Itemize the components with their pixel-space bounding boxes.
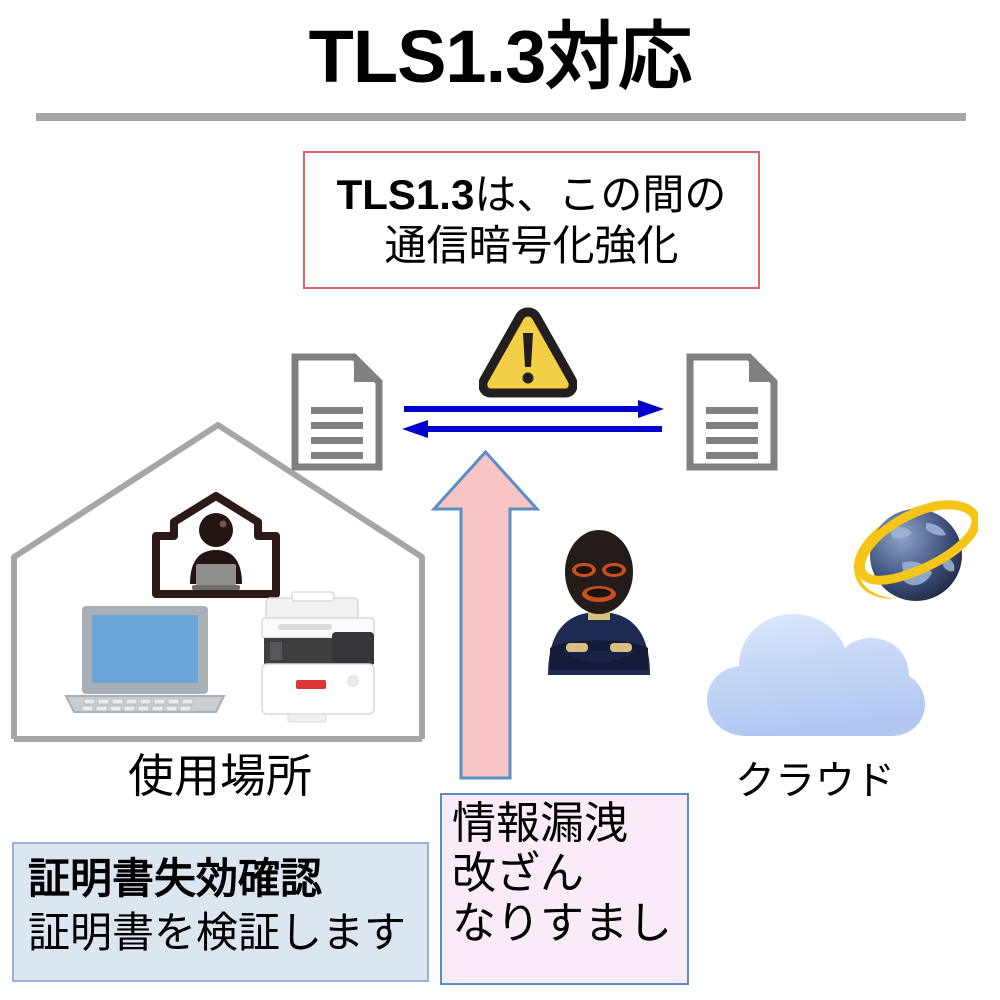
warning-triangle-icon: [479, 307, 577, 399]
arrow-left-to-site: [402, 418, 664, 440]
threat-up-arrow: [431, 449, 540, 781]
callout-line-1-strong: TLS1.3: [337, 171, 475, 218]
threats-box: 情報漏洩 改ざん なりすまし: [440, 793, 689, 985]
globe-icon: [850, 495, 978, 613]
document-icon-right: [686, 353, 778, 471]
slide-canvas: TLS1.3対応 TLS1.3は、この間の 通信暗号化強化: [0, 0, 1000, 1000]
tls-callout-box: TLS1.3は、この間の 通信暗号化強化: [303, 151, 760, 289]
threat-item-1: 情報漏洩: [452, 799, 687, 849]
multifunction-printer-icon: [252, 588, 397, 726]
label-usage-place: 使用場所: [0, 740, 440, 806]
title-divider: [36, 113, 966, 121]
callout-line-2: 通信暗号化強化: [384, 220, 678, 271]
arrow-right-to-cloud: [402, 398, 664, 420]
page-title: TLS1.3対応: [0, 18, 1000, 96]
threat-item-3: なりすまし: [452, 899, 687, 949]
certificate-box-title: 証明書失効確認: [28, 852, 413, 906]
certificate-box-body: 証明書を検証します: [28, 906, 413, 960]
laptop-icon: [60, 600, 230, 718]
certificate-revocation-box: 証明書失効確認 証明書を検証します: [12, 842, 429, 982]
home-worker-icon: [148, 492, 284, 600]
callout-line-1-rest: は、この間の: [474, 171, 726, 218]
hacker-figure-icon: [540, 520, 658, 675]
label-cloud: クラウド: [690, 748, 940, 806]
threat-item-2: 改ざん: [452, 849, 687, 899]
callout-line-1: TLS1.3は、この間の: [337, 169, 727, 220]
